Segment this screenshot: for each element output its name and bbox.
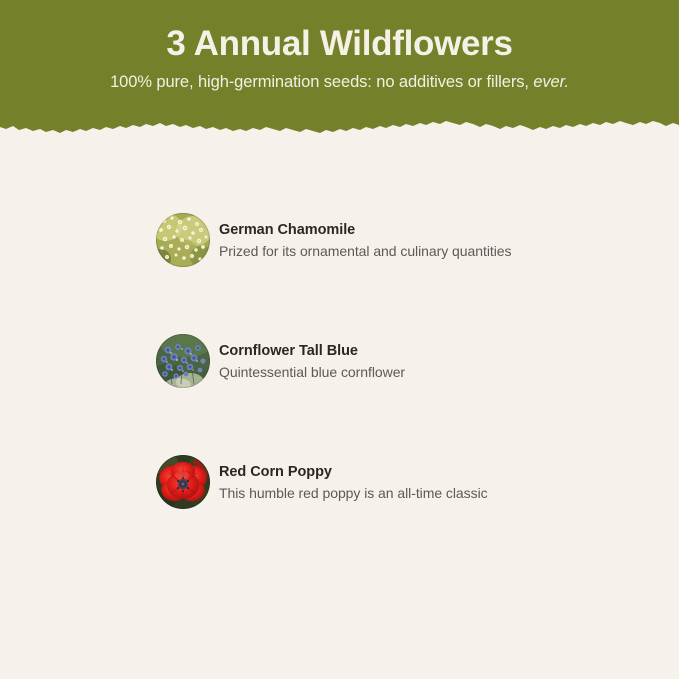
header-band: 3 Annual Wildflowers 100% pure, high-ger… [0, 0, 679, 143]
page-subtitle: 100% pure, high-germination seeds: no ad… [0, 71, 679, 93]
list-item-text: German Chamomile Prized for its ornament… [219, 221, 659, 261]
list-item-description: Quintessential blue cornflower [219, 363, 659, 382]
list-item-title: Red Corn Poppy [219, 463, 659, 482]
list-item-description: Prized for its ornamental and culinary q… [219, 242, 659, 261]
cornflower-flowers-photo-icon [156, 334, 210, 388]
subtitle-lead-text: 100% pure, high-germination seeds: no ad… [110, 73, 529, 91]
page-title: 3 Annual Wildflowers [0, 22, 679, 66]
list-item-title: Cornflower Tall Blue [219, 342, 659, 361]
list-item: Red Corn Poppy This humble red poppy is … [0, 438, 679, 559]
cornflower-thumbnail-art [156, 334, 210, 388]
poppy-thumbnail-art [156, 455, 210, 509]
list-item: Cornflower Tall Blue Quintessential blue… [0, 317, 679, 438]
red-poppy-flower-photo-icon [156, 455, 210, 509]
list-item-text: Red Corn Poppy This humble red poppy is … [219, 463, 659, 503]
chamomile-thumbnail-art [156, 213, 210, 267]
list-item-title: German Chamomile [219, 221, 659, 240]
header-content: 3 Annual Wildflowers 100% pure, high-ger… [0, 0, 679, 93]
flower-list: German Chamomile Prized for its ornament… [0, 196, 679, 559]
list-item: German Chamomile Prized for its ornament… [0, 196, 679, 317]
list-item-text: Cornflower Tall Blue Quintessential blue… [219, 342, 659, 382]
list-item-description: This humble red poppy is an all-time cla… [219, 484, 659, 503]
wildflower-seed-poster: 3 Annual Wildflowers 100% pure, high-ger… [0, 0, 679, 679]
chamomile-flowers-photo-icon [156, 213, 210, 267]
subtitle-emphasis-text: ever. [533, 73, 569, 91]
torn-paper-edge-icon [0, 118, 679, 143]
